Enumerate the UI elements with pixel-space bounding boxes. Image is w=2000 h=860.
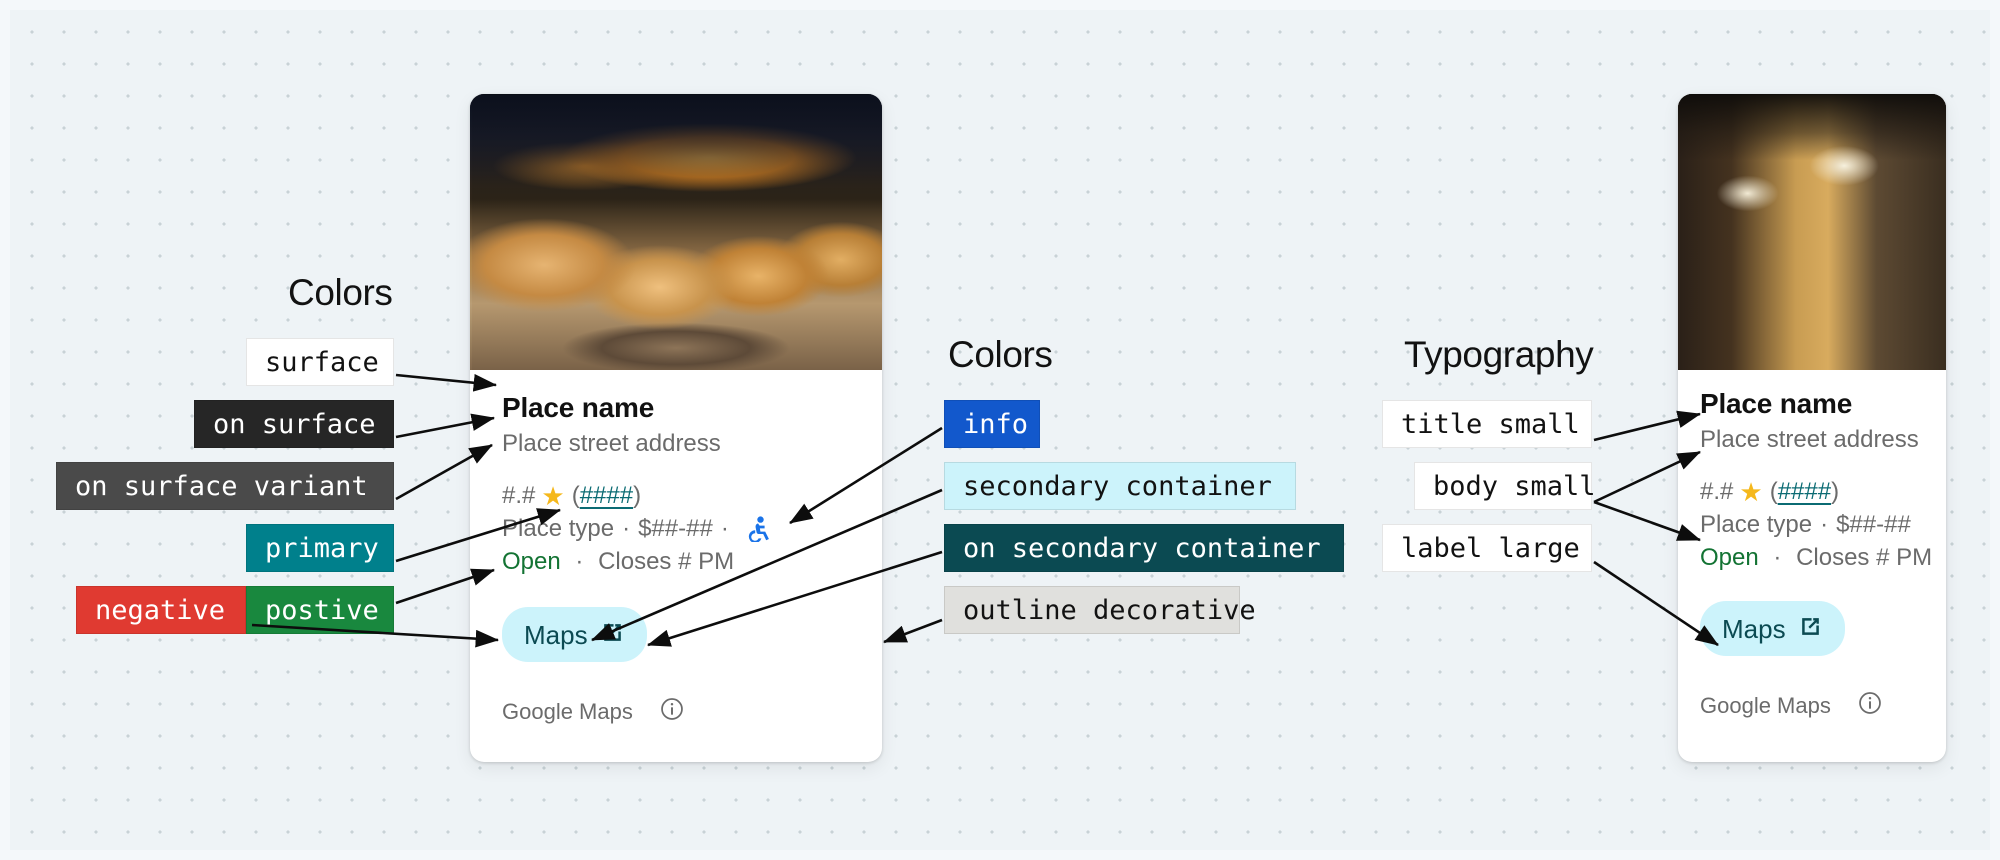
info-circle-icon[interactable]: [1857, 690, 1883, 722]
open-status: Open: [1700, 544, 1759, 571]
maps-button[interactable]: Maps: [1700, 601, 1845, 656]
maps-button[interactable]: Maps: [502, 607, 647, 662]
place-card-right: Place name Place street address #.# ★ ( …: [1678, 94, 1946, 762]
open-in-new-icon: [1798, 614, 1823, 643]
color-token-negative[interactable]: negative: [76, 586, 246, 634]
color-token-secondary-container[interactable]: secondary container: [944, 462, 1296, 510]
place-type-row: Place type · $##-## ·: [502, 514, 850, 544]
rating-value: #.#: [1700, 477, 1733, 507]
place-card-body: Place name Place street address #.# ★ ( …: [470, 370, 882, 728]
color-token-info[interactable]: info: [944, 400, 1040, 448]
place-type-row: Place type · $##-##: [1700, 510, 1924, 540]
color-token-on-secondary-container[interactable]: on secondary container: [944, 524, 1344, 572]
open-status: Open: [502, 548, 561, 575]
place-type: Place type: [1700, 510, 1812, 540]
place-photo-bakery: [470, 94, 882, 370]
typography-token-label-large[interactable]: label large: [1382, 524, 1592, 572]
info-circle-icon[interactable]: [659, 696, 685, 728]
open-in-new-icon: [600, 620, 625, 649]
card-footer: Google Maps: [1700, 690, 1924, 722]
place-rating-row: #.# ★ ( #### ): [1700, 477, 1924, 507]
type-separator-1: ·: [622, 514, 630, 544]
place-address: Place street address: [1700, 424, 1924, 455]
place-name: Place name: [1700, 388, 1924, 420]
place-type: Place type: [502, 514, 614, 544]
hours-separator: ·: [575, 548, 583, 575]
rating-count-link[interactable]: ####: [1778, 477, 1831, 507]
card-footer: Google Maps: [502, 696, 850, 728]
wheelchair-accessible-icon: [747, 516, 771, 542]
star-icon: ★: [541, 483, 564, 509]
maps-button-label: Maps: [1722, 616, 1786, 642]
color-token-primary[interactable]: primary: [246, 524, 394, 572]
rating-close-paren: ): [633, 481, 641, 511]
footer-google-maps-label: Google Maps: [502, 699, 633, 725]
footer-google-maps-label: Google Maps: [1700, 693, 1831, 719]
rating-open-paren: (: [1770, 477, 1778, 507]
typography-token-body-small[interactable]: body small: [1414, 462, 1592, 510]
section-title-typography: Typography: [1404, 334, 1593, 376]
rating-close-paren: ): [1831, 477, 1839, 507]
color-token-surface[interactable]: surface: [246, 338, 394, 386]
place-card-body-right: Place name Place street address #.# ★ ( …: [1678, 370, 1946, 722]
closing-time: Closes # PM: [598, 548, 734, 575]
rating-count-link[interactable]: ####: [580, 481, 633, 511]
place-address: Place street address: [502, 428, 850, 459]
section-title-colors-middle: Colors: [948, 334, 1053, 376]
rating-open-paren: (: [572, 481, 580, 511]
type-separator-1: ·: [1820, 510, 1828, 540]
color-token-on-surface[interactable]: on surface: [194, 400, 394, 448]
place-card-center: Place name Place street address #.# ★ ( …: [470, 94, 882, 762]
color-token-positive[interactable]: postive: [246, 586, 394, 634]
maps-button-label: Maps: [524, 622, 588, 648]
place-photo-cafe: [1678, 94, 1946, 370]
place-hours-row: Open · Closes # PM: [1700, 543, 1924, 573]
place-hours-row: Open · Closes # PM: [502, 547, 850, 577]
place-rating-row: #.# ★ ( #### ): [502, 481, 850, 511]
color-token-outline-decorative[interactable]: outline decorative: [944, 586, 1240, 634]
place-name: Place name: [502, 392, 850, 424]
place-price: $##-##: [1836, 510, 1911, 540]
rating-value: #.#: [502, 481, 535, 511]
star-icon: ★: [1739, 479, 1762, 505]
type-separator-2: ·: [721, 514, 729, 544]
closing-time: Closes # PM: [1796, 544, 1932, 571]
hours-separator: ·: [1773, 544, 1781, 571]
color-token-on-surface-variant[interactable]: on surface variant: [56, 462, 394, 510]
place-price: $##-##: [638, 514, 713, 544]
typography-token-title-small[interactable]: title small: [1382, 400, 1592, 448]
section-title-colors-left: Colors: [288, 272, 393, 314]
